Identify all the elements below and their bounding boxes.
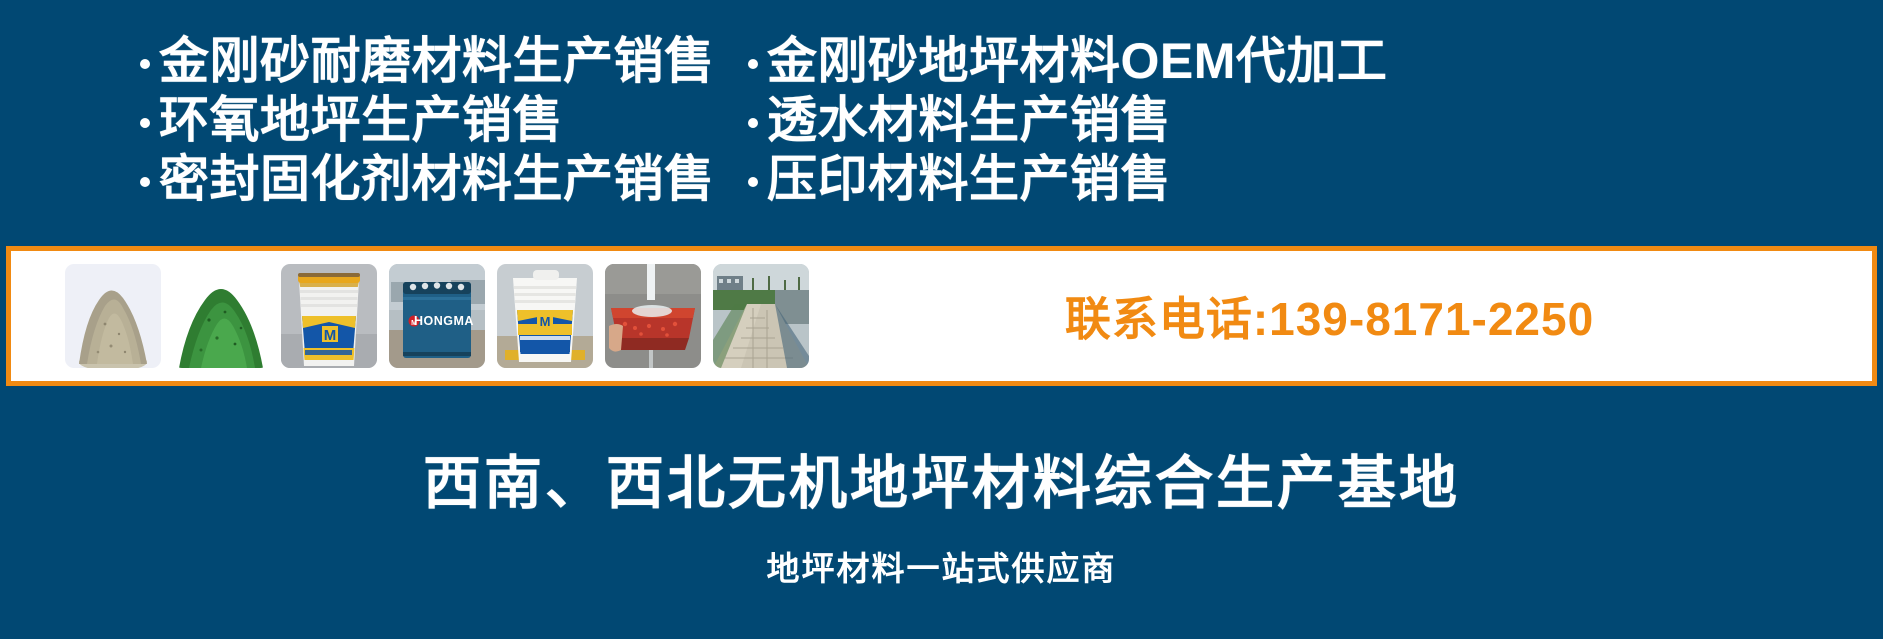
feature-label: 金刚砂耐磨材料生产销售 xyxy=(159,32,715,91)
permeable-concrete-sample-photo xyxy=(605,264,701,368)
sealer-bucket-photo: M xyxy=(281,264,377,368)
feature-item: 金刚砂耐磨材料生产销售 xyxy=(140,32,730,91)
bullet-dot-icon xyxy=(748,177,758,187)
gray-abrasive-powder-photo xyxy=(65,264,161,368)
bullet-dot-icon xyxy=(748,59,758,69)
advertisement-banner: 金刚砂耐磨材料生产销售 环氧地坪生产销售 密封固化剂材料生产销售 金刚砂地坪材料… xyxy=(0,0,1883,639)
product-strip: M xyxy=(6,246,1877,386)
feature-item: 透水材料生产销售 xyxy=(748,91,1743,150)
svg-text:M: M xyxy=(324,327,337,344)
svg-text:HONGMA: HONGMA xyxy=(414,314,474,328)
contact-phone-label[interactable]: 联系电话:139-8171-2250 xyxy=(809,283,1872,349)
feature-column-right: 金刚砂地坪材料OEM代加工 透水材料生产销售 压印材料生产销售 xyxy=(730,32,1743,246)
main-headline: 西南、西北无机地坪材料综合生产基地 xyxy=(423,436,1460,520)
feature-label: 压印材料生产销售 xyxy=(767,150,1171,209)
svg-text:M: M xyxy=(540,314,551,329)
bullet-dot-icon xyxy=(140,177,150,187)
bullet-dot-icon xyxy=(140,118,150,128)
epoxy-coating-bucket-photo: M xyxy=(497,264,593,368)
feature-label: 环氧地坪生产销售 xyxy=(159,91,563,150)
stamped-concrete-path-photo xyxy=(713,264,809,368)
feature-item: 环氧地坪生产销售 xyxy=(140,91,730,150)
product-thumbnail-list: M xyxy=(11,264,809,368)
green-abrasive-powder-photo xyxy=(173,264,269,368)
feature-label: 透水材料生产销售 xyxy=(767,91,1171,150)
feature-column-left: 金刚砂耐磨材料生产销售 环氧地坪生产销售 密封固化剂材料生产销售 xyxy=(0,32,730,246)
sub-headline: 地坪材料一站式供应商 xyxy=(767,542,1117,590)
feature-label: 金刚砂地坪材料OEM代加工 xyxy=(767,32,1387,91)
feature-item: 金刚砂地坪材料OEM代加工 xyxy=(748,32,1743,91)
bullet-dot-icon xyxy=(748,118,758,128)
bullet-dot-icon xyxy=(140,59,150,69)
feature-item: 压印材料生产销售 xyxy=(748,150,1743,209)
feature-item: 密封固化剂材料生产销售 xyxy=(140,150,730,209)
hongma-drum-photo: M HONGMA xyxy=(389,264,485,368)
footer-section: 西南、西北无机地坪材料综合生产基地 地坪材料一站式供应商 xyxy=(0,386,1883,639)
feature-label: 密封固化剂材料生产销售 xyxy=(159,150,715,209)
feature-list-section: 金刚砂耐磨材料生产销售 环氧地坪生产销售 密封固化剂材料生产销售 金刚砂地坪材料… xyxy=(0,0,1883,246)
